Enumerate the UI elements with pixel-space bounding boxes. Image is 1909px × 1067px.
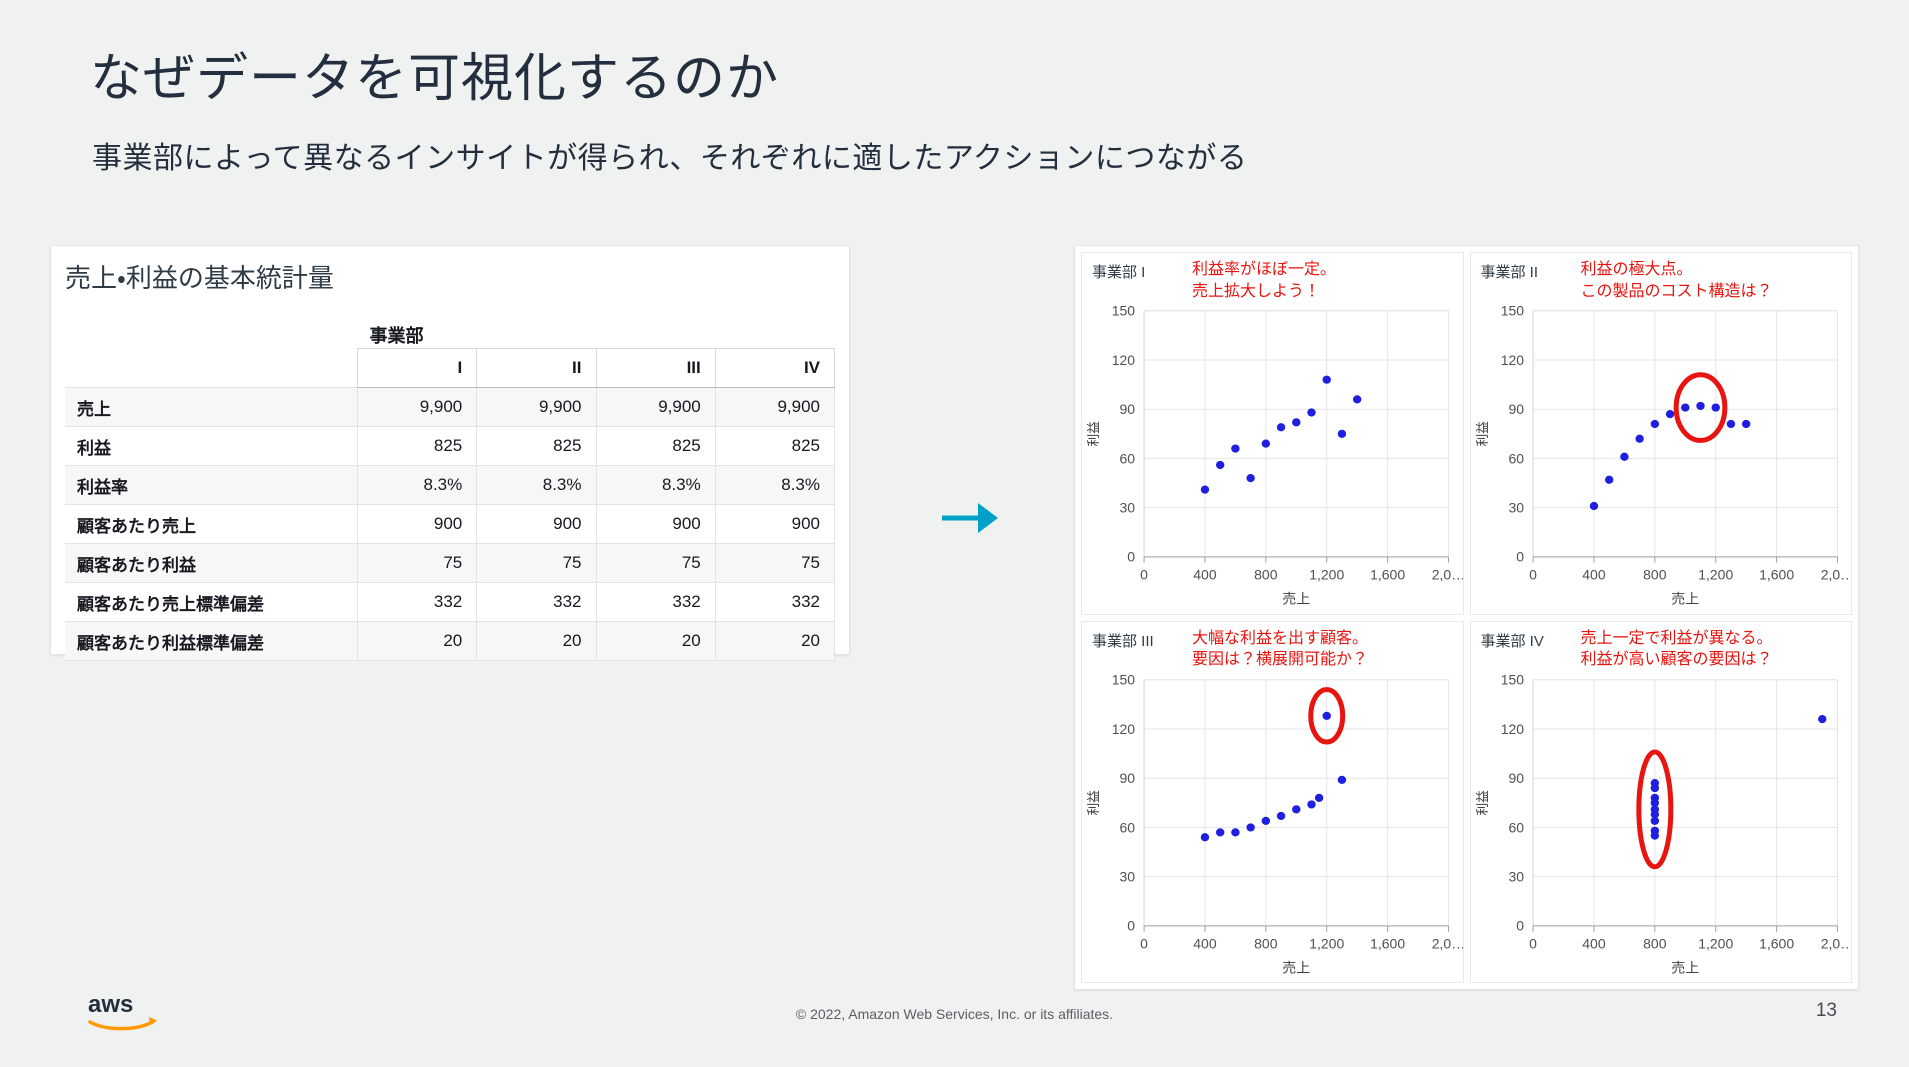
row-label: 売上 bbox=[65, 388, 358, 427]
column-header-3: III bbox=[596, 349, 715, 388]
chart-panel-4: 事業部 IV 売上一定で利益が異なる。 利益が高い顧客の要因は？ 0306090… bbox=[1470, 621, 1853, 984]
svg-text:1,200: 1,200 bbox=[1309, 935, 1344, 951]
chart-panel-3-annotation: 大幅な利益を出す顧客。 要因は？横展開可能か？ bbox=[1192, 628, 1368, 671]
svg-text:1,200: 1,200 bbox=[1309, 566, 1344, 582]
svg-text:利益: 利益 bbox=[1474, 789, 1489, 815]
arrow-right-icon bbox=[940, 497, 1000, 539]
column-header-row: IIIIIIIV bbox=[65, 349, 835, 388]
page-subtitle: 事業部によって異なるインサイトが得られ、それぞれに適したアクションにつながる bbox=[92, 133, 1247, 177]
svg-text:150: 150 bbox=[1500, 671, 1524, 687]
svg-text:0: 0 bbox=[1140, 935, 1148, 951]
svg-text:400: 400 bbox=[1582, 566, 1606, 582]
table-cell: 900 bbox=[596, 505, 715, 544]
chart-panel-2: 事業部 II 利益の極大点。 この製品のコスト構造は？ 030609012015… bbox=[1470, 252, 1853, 615]
svg-text:120: 120 bbox=[1500, 352, 1524, 368]
table-row: 利益825825825825 bbox=[65, 427, 835, 466]
table-cell: 332 bbox=[715, 583, 834, 622]
chart-panel-2-plot: 030609012015004008001,2001,6002,0…売上利益 bbox=[1471, 301, 1852, 614]
table-cell: 825 bbox=[477, 427, 596, 466]
table-corner-cell bbox=[65, 349, 358, 388]
svg-text:90: 90 bbox=[1508, 401, 1524, 417]
svg-text:売上: 売上 bbox=[1671, 959, 1699, 975]
table-cell: 900 bbox=[358, 505, 477, 544]
table-cell: 8.3% bbox=[715, 466, 834, 505]
row-label: 利益率 bbox=[65, 466, 358, 505]
stats-table: 事業部 IIIIIIIV 売上9,9009,9009,9009,900利益825… bbox=[65, 308, 835, 661]
charts-card: 事業部 I 利益率がほぼ一定。 売上拡大しよう！ 030609012015004… bbox=[1074, 245, 1859, 990]
svg-text:60: 60 bbox=[1119, 819, 1135, 835]
table-cell: 9,900 bbox=[477, 388, 596, 427]
svg-text:120: 120 bbox=[1500, 721, 1524, 737]
svg-text:30: 30 bbox=[1508, 500, 1524, 516]
table-cell: 20 bbox=[596, 622, 715, 661]
table-cell: 9,900 bbox=[715, 388, 834, 427]
svg-text:0: 0 bbox=[1140, 566, 1148, 582]
svg-text:90: 90 bbox=[1508, 770, 1524, 786]
svg-text:400: 400 bbox=[1582, 935, 1606, 951]
chart-panel-1-plot: 030609012015004008001,2001,6002,0…売上利益 bbox=[1082, 301, 1463, 614]
svg-text:30: 30 bbox=[1119, 868, 1135, 884]
svg-text:0: 0 bbox=[1516, 917, 1524, 933]
row-label: 顧客あたり売上 bbox=[65, 505, 358, 544]
svg-text:1,600: 1,600 bbox=[1370, 935, 1405, 951]
svg-text:2,0…: 2,0… bbox=[1820, 566, 1851, 582]
svg-text:0: 0 bbox=[1127, 917, 1135, 933]
page-title: なぜデータを可視化するのか bbox=[90, 36, 779, 111]
column-header-4: IV bbox=[715, 349, 834, 388]
chart-panel-3-plot: 030609012015004008001,2001,6002,0…売上利益 bbox=[1082, 670, 1463, 983]
svg-text:利益: 利益 bbox=[1086, 789, 1101, 815]
svg-text:売上: 売上 bbox=[1282, 959, 1310, 975]
svg-text:売上: 売上 bbox=[1671, 591, 1699, 607]
svg-text:0: 0 bbox=[1529, 935, 1537, 951]
table-cell: 75 bbox=[596, 544, 715, 583]
svg-text:0: 0 bbox=[1127, 549, 1135, 565]
table-cell: 75 bbox=[477, 544, 596, 583]
table-cell: 20 bbox=[715, 622, 834, 661]
chart-panel-4-label: 事業部 IV bbox=[1481, 630, 1544, 651]
svg-text:利益: 利益 bbox=[1474, 421, 1489, 447]
table-cell: 900 bbox=[477, 505, 596, 544]
svg-text:120: 120 bbox=[1112, 352, 1136, 368]
table-cell: 9,900 bbox=[596, 388, 715, 427]
svg-text:1,600: 1,600 bbox=[1759, 566, 1794, 582]
svg-text:400: 400 bbox=[1193, 566, 1217, 582]
table-cell: 9,900 bbox=[358, 388, 477, 427]
table-cell: 825 bbox=[596, 427, 715, 466]
row-label: 顧客あたり利益 bbox=[65, 544, 358, 583]
row-label: 利益 bbox=[65, 427, 358, 466]
table-cell: 900 bbox=[715, 505, 834, 544]
svg-text:0: 0 bbox=[1529, 566, 1537, 582]
svg-text:60: 60 bbox=[1508, 450, 1524, 466]
table-cell: 20 bbox=[477, 622, 596, 661]
chart-panel-4-plot: 030609012015004008001,2001,6002,0…売上利益 bbox=[1471, 670, 1852, 983]
svg-text:800: 800 bbox=[1643, 935, 1667, 951]
page-number: 13 bbox=[1816, 1000, 1837, 1022]
copyright-text: © 2022, Amazon Web Services, Inc. or its… bbox=[0, 1006, 1909, 1022]
svg-text:800: 800 bbox=[1643, 566, 1667, 582]
chart-panel-3-label: 事業部 III bbox=[1092, 630, 1154, 651]
table-cell: 825 bbox=[358, 427, 477, 466]
stats-table-head: 事業部 IIIIIIIV bbox=[65, 308, 835, 388]
table-row: 顧客あたり利益75757575 bbox=[65, 544, 835, 583]
svg-text:150: 150 bbox=[1112, 671, 1136, 687]
svg-text:150: 150 bbox=[1500, 303, 1524, 319]
row-label: 顧客あたり利益標準偏差 bbox=[65, 622, 358, 661]
table-row: 利益率8.3%8.3%8.3%8.3% bbox=[65, 466, 835, 505]
chart-panel-1-annotation: 利益率がほぼ一定。 売上拡大しよう！ bbox=[1192, 259, 1336, 302]
table-cell: 825 bbox=[715, 427, 834, 466]
stats-table-title: 売上・利益の基本統計量 bbox=[65, 258, 334, 295]
svg-text:1,200: 1,200 bbox=[1698, 566, 1733, 582]
svg-text:90: 90 bbox=[1119, 401, 1135, 417]
column-header-2: II bbox=[477, 349, 596, 388]
svg-text:2,0…: 2,0… bbox=[1432, 935, 1463, 951]
table-cell: 332 bbox=[596, 583, 715, 622]
table-cell: 8.3% bbox=[596, 466, 715, 505]
chart-panel-2-label: 事業部 II bbox=[1481, 261, 1539, 282]
svg-text:120: 120 bbox=[1112, 721, 1136, 737]
stats-table-card: 売上・利益の基本統計量 事業部 IIIIIIIV 売上9,9009,9009,9… bbox=[50, 245, 850, 655]
stats-table-wrap: 事業部 IIIIIIIV 売上9,9009,9009,9009,900利益825… bbox=[65, 308, 835, 661]
table-cell: 75 bbox=[358, 544, 477, 583]
table-cell: 8.3% bbox=[358, 466, 477, 505]
chart-panel-1: 事業部 I 利益率がほぼ一定。 売上拡大しよう！ 030609012015004… bbox=[1081, 252, 1464, 615]
chart-panel-1-label: 事業部 I bbox=[1092, 261, 1145, 282]
table-cell: 20 bbox=[358, 622, 477, 661]
group-header-row: 事業部 bbox=[65, 308, 835, 349]
svg-text:150: 150 bbox=[1112, 303, 1136, 319]
chart-panel-3: 事業部 III 大幅な利益を出す顧客。 要因は？横展開可能か？ 03060901… bbox=[1081, 621, 1464, 984]
chart-panel-4-annotation: 売上一定で利益が異なる。 利益が高い顧客の要因は？ bbox=[1581, 628, 1773, 671]
svg-text:0: 0 bbox=[1516, 549, 1524, 565]
svg-text:60: 60 bbox=[1119, 450, 1135, 466]
svg-text:利益: 利益 bbox=[1086, 421, 1101, 447]
table-cell: 8.3% bbox=[477, 466, 596, 505]
svg-text:800: 800 bbox=[1254, 566, 1278, 582]
svg-text:1,200: 1,200 bbox=[1698, 935, 1733, 951]
group-header-label: 事業部 bbox=[358, 308, 835, 349]
svg-text:30: 30 bbox=[1508, 868, 1524, 884]
table-cell: 332 bbox=[358, 583, 477, 622]
svg-text:800: 800 bbox=[1254, 935, 1278, 951]
table-cell: 75 bbox=[715, 544, 834, 583]
chart-panel-2-annotation: 利益の極大点。 この製品のコスト構造は？ bbox=[1581, 259, 1773, 302]
stats-table-body: 売上9,9009,9009,9009,900利益825825825825利益率8… bbox=[65, 388, 835, 661]
svg-text:2,0…: 2,0… bbox=[1432, 566, 1463, 582]
svg-text:売上: 売上 bbox=[1282, 591, 1310, 607]
svg-text:400: 400 bbox=[1193, 935, 1217, 951]
table-row: 売上9,9009,9009,9009,900 bbox=[65, 388, 835, 427]
column-header-1: I bbox=[358, 349, 477, 388]
table-row: 顧客あたり売上標準偏差332332332332 bbox=[65, 583, 835, 622]
row-label: 顧客あたり売上標準偏差 bbox=[65, 583, 358, 622]
group-header-spacer bbox=[65, 308, 358, 349]
svg-text:1,600: 1,600 bbox=[1759, 935, 1794, 951]
table-row: 顧客あたり利益標準偏差20202020 bbox=[65, 622, 835, 661]
svg-text:2,0…: 2,0… bbox=[1820, 935, 1851, 951]
table-cell: 332 bbox=[477, 583, 596, 622]
table-row: 顧客あたり売上900900900900 bbox=[65, 505, 835, 544]
svg-text:90: 90 bbox=[1119, 770, 1135, 786]
svg-text:30: 30 bbox=[1119, 500, 1135, 516]
svg-text:1,600: 1,600 bbox=[1370, 566, 1405, 582]
svg-text:60: 60 bbox=[1508, 819, 1524, 835]
